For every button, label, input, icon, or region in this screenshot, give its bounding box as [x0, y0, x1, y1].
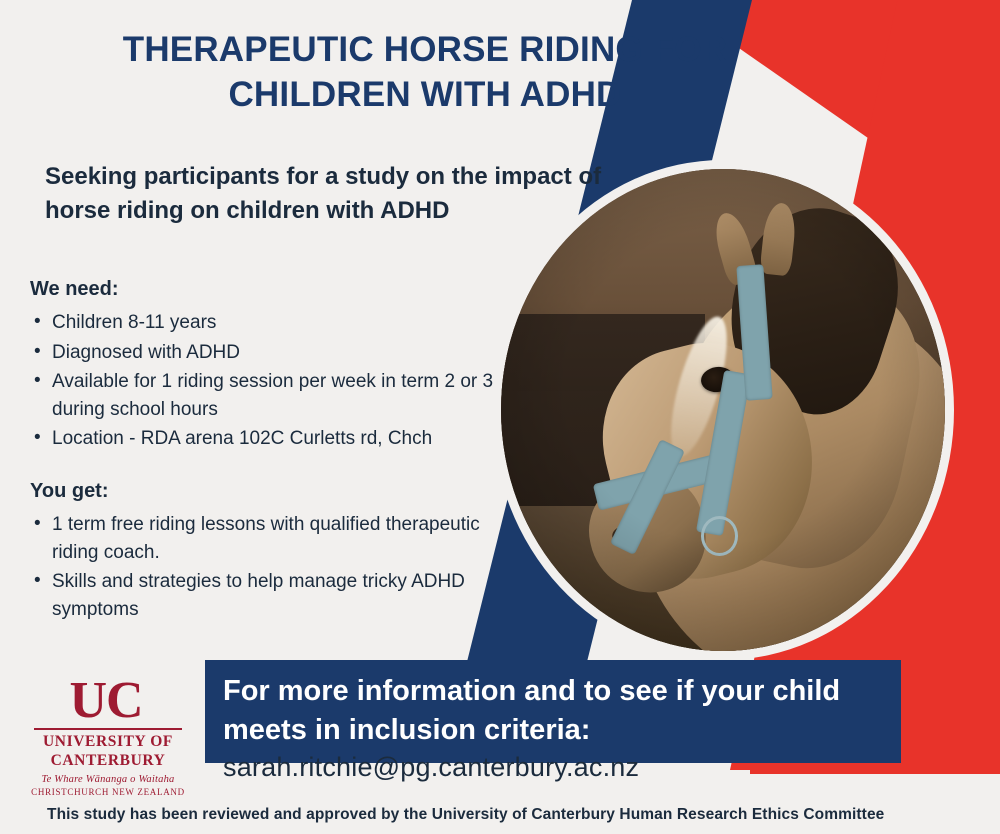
- logo-name-line2: CANTERBURY: [28, 752, 188, 769]
- you-get-section: You get: 1 term free riding lessons with…: [30, 480, 500, 625]
- list-item: Available for 1 riding session per week …: [52, 368, 510, 423]
- poster-canvas: THERAPEUTIC HORSE RIDING FOR CHILDREN WI…: [0, 0, 1000, 834]
- logo-name-line1: UNIVERSITY OF: [28, 733, 188, 750]
- university-logo: UC UNIVERSITY OF CANTERBURY Te Whare Wān…: [28, 678, 188, 797]
- photo-vignette: [501, 169, 945, 651]
- list-item: Children 8-11 years: [52, 309, 510, 337]
- page-title: THERAPEUTIC HORSE RIDING FOR CHILDREN WI…: [80, 28, 770, 118]
- contact-email[interactable]: sarah.ritchie@pg.canterbury.ac.nz: [223, 752, 639, 783]
- list-item: Location - RDA arena 102C Curletts rd, C…: [52, 425, 510, 453]
- logo-city: CHRISTCHURCH NEW ZEALAND: [28, 787, 188, 797]
- logo-letters: UC: [69, 678, 142, 725]
- logo-maori-name: Te Whare Wānanga o Waitaha: [28, 774, 188, 785]
- we-need-list: Children 8-11 years Diagnosed with ADHD …: [30, 309, 510, 453]
- subheading: Seeking participants for a study on the …: [45, 160, 645, 228]
- horse-photo-inner: [501, 169, 945, 651]
- ethics-footer: This study has been reviewed and approve…: [47, 806, 884, 824]
- we-need-title: We need:: [30, 278, 510, 301]
- logo-mark-row: UC: [28, 678, 188, 725]
- we-need-section: We need: Children 8-11 years Diagnosed w…: [30, 278, 510, 455]
- horse-photo: [492, 160, 954, 660]
- you-get-list: 1 term free riding lessons with qualifie…: [30, 511, 500, 623]
- list-item: Skills and strategies to help manage tri…: [52, 568, 500, 623]
- you-get-title: You get:: [30, 480, 500, 503]
- call-to-action-banner: For more information and to see if your …: [205, 660, 901, 763]
- list-item: Diagnosed with ADHD: [52, 339, 510, 367]
- list-item: 1 term free riding lessons with qualifie…: [52, 511, 500, 566]
